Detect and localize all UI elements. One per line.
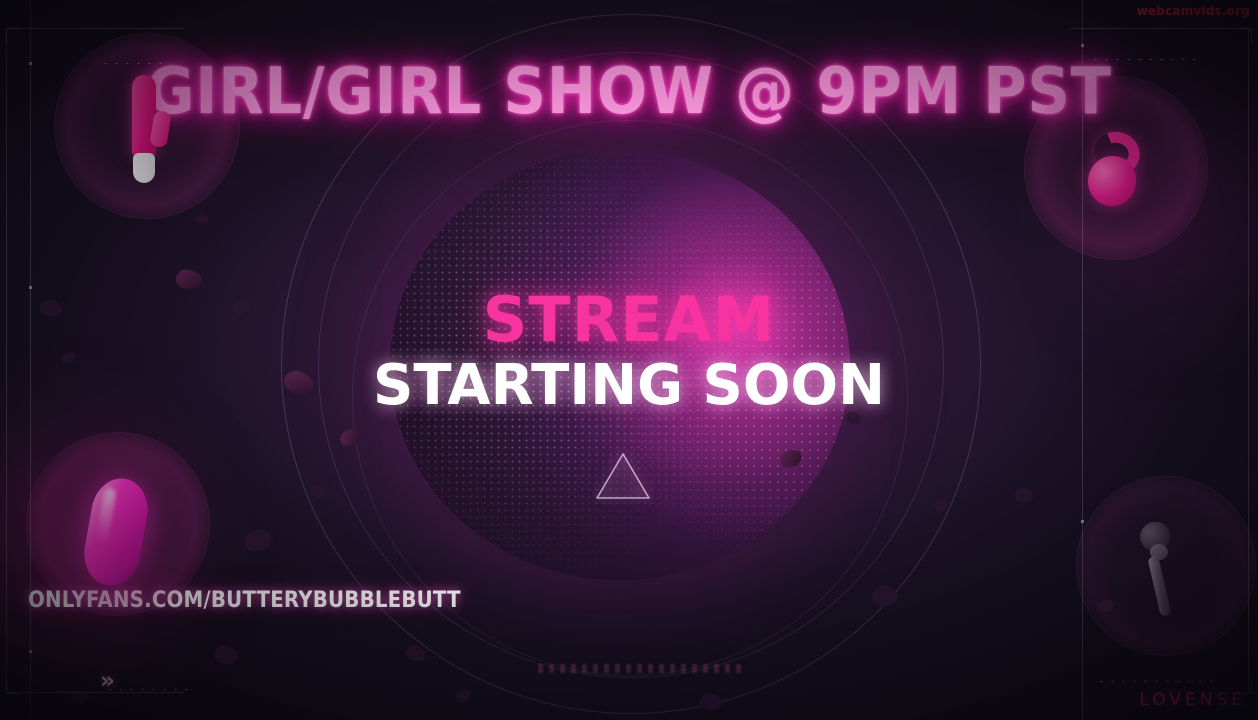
hud-line-horizontal-top-right <box>1070 28 1248 29</box>
debris-rock <box>455 688 473 704</box>
hud-marker-dot <box>29 62 32 65</box>
wand-massager-graphic <box>1134 522 1190 618</box>
hud-line-horizontal-top-left <box>6 28 184 29</box>
hud-dot-row <box>100 62 170 65</box>
stream-overlay-scene: GIRL/GIRL SHOW @ 9PM PST STREAM STARTING… <box>0 0 1258 720</box>
debris-rock <box>195 213 210 225</box>
triangle-outline-icon <box>592 448 654 504</box>
debris-rock <box>404 643 428 664</box>
product-halo <box>1076 476 1256 656</box>
debris-rock <box>1188 247 1206 263</box>
debris-rock <box>308 483 328 501</box>
chevron-double-right-icon[interactable]: » <box>100 668 111 694</box>
debris-rock <box>68 687 90 706</box>
debris-rock <box>1014 486 1035 504</box>
rabbit-vibrator-graphic <box>120 75 174 185</box>
debris-rock <box>871 584 900 607</box>
egg-vibrator-graphic <box>1082 128 1148 208</box>
debris-rock <box>242 527 274 554</box>
debris-rock <box>212 643 240 667</box>
hud-line-horizontal-bottom-left <box>6 692 184 693</box>
stream-headline: STREAM <box>0 283 1258 356</box>
hud-corner-bracket <box>6 680 20 694</box>
product-bulb <box>1088 156 1136 206</box>
hud-dot-row <box>1090 58 1200 61</box>
hud-corner-bracket <box>1238 28 1252 42</box>
data-strip-indicator <box>538 664 746 673</box>
site-watermark: webcamvids.org <box>1137 4 1250 18</box>
hud-marker-dot <box>1081 44 1084 47</box>
debris-rock <box>699 693 723 711</box>
hud-marker-dot <box>1081 520 1084 523</box>
hud-marker-dot <box>29 286 32 289</box>
hud-corner-bracket <box>6 28 20 42</box>
hud-dot-row <box>1096 680 1216 683</box>
bullet-vibrator-graphic <box>88 478 144 586</box>
starting-soon-text: STARTING SOON <box>0 353 1258 418</box>
product-base <box>133 153 155 183</box>
debris-rock <box>338 426 363 449</box>
debris-rock <box>932 497 949 513</box>
hud-marker-dot <box>29 650 32 653</box>
lovense-logo: LOVENSE <box>1139 690 1246 710</box>
hud-dot-row <box>104 688 194 691</box>
